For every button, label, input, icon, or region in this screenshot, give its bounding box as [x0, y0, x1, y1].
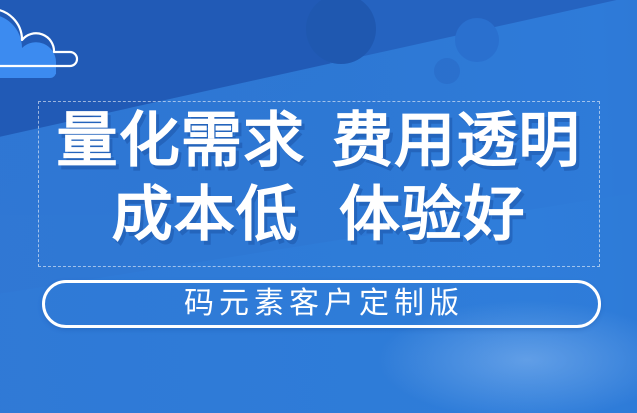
edition-pill-label: 码元素客户定制版: [179, 289, 464, 319]
circle-decoration-medium: [455, 18, 499, 62]
edition-pill-button[interactable]: 码元素客户定制版: [42, 280, 601, 328]
headline-line-2: 成本低体验好: [0, 178, 637, 252]
headline-group: 量化需求费用透明 成本低体验好: [0, 104, 637, 252]
promo-banner: 量化需求费用透明 成本低体验好 码元素客户定制版: [0, 0, 637, 413]
headline-line1-part1: 量化需求: [56, 107, 305, 174]
headline-line-1: 量化需求费用透明: [0, 104, 637, 178]
headline-line2-part2: 体验好: [339, 181, 526, 248]
headline-line1-part2: 费用透明: [332, 107, 581, 174]
circle-decoration-small: [434, 58, 460, 84]
cloud-icon: [0, 4, 114, 86]
headline-line2-part1: 成本低: [111, 181, 298, 248]
